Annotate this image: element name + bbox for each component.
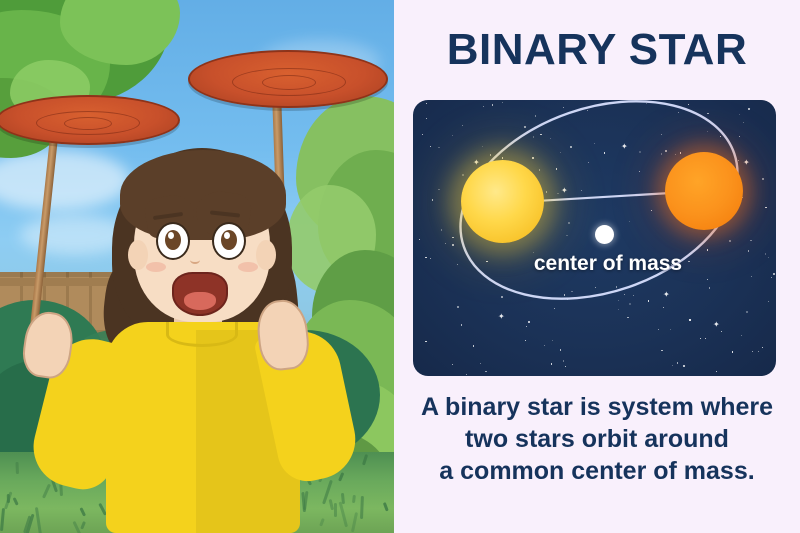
cheek-blush <box>146 262 166 272</box>
illustration-panel <box>0 0 394 533</box>
pupil <box>221 230 237 250</box>
grass-blade <box>334 503 337 517</box>
binary-star-diagram: ✦✦✦✦✦✦✦✦ center of mass <box>413 100 776 376</box>
ear <box>256 240 276 270</box>
caption-text: A binary star is system where two stars … <box>404 392 790 487</box>
orbit-ellipse-svg <box>413 100 776 376</box>
yellow-star <box>461 160 544 243</box>
grass-blade <box>6 494 9 503</box>
caption-line-2: two stars orbit around <box>404 424 790 456</box>
eye <box>156 222 190 260</box>
infographic-page: BINARY STAR ✦✦✦✦✦✦✦✦ center of mass A bi… <box>0 0 800 533</box>
orange-star <box>665 152 743 230</box>
center-of-mass-label: center of mass <box>533 252 683 276</box>
shirt-collar <box>166 322 238 347</box>
nose <box>190 256 200 264</box>
plate-ring <box>262 75 316 90</box>
eye <box>212 222 246 260</box>
com-label-line2: of mass <box>603 252 682 275</box>
cheek-blush <box>238 262 258 272</box>
ear <box>128 240 148 270</box>
center-of-mass-dot <box>595 225 614 244</box>
page-title: BINARY STAR <box>394 28 800 72</box>
com-label-line1: center <box>534 252 597 275</box>
spinning-plate-right <box>188 50 388 108</box>
pupil <box>165 230 181 250</box>
caption-line-3: a common center of mass. <box>404 456 790 488</box>
open-mouth <box>172 272 228 316</box>
info-panel: BINARY STAR ✦✦✦✦✦✦✦✦ center of mass A bi… <box>394 0 800 533</box>
spinning-plate-left <box>0 95 180 145</box>
caption-line-1: A binary star is system where <box>404 392 790 424</box>
plate-ring <box>64 117 112 130</box>
tongue <box>184 292 216 310</box>
